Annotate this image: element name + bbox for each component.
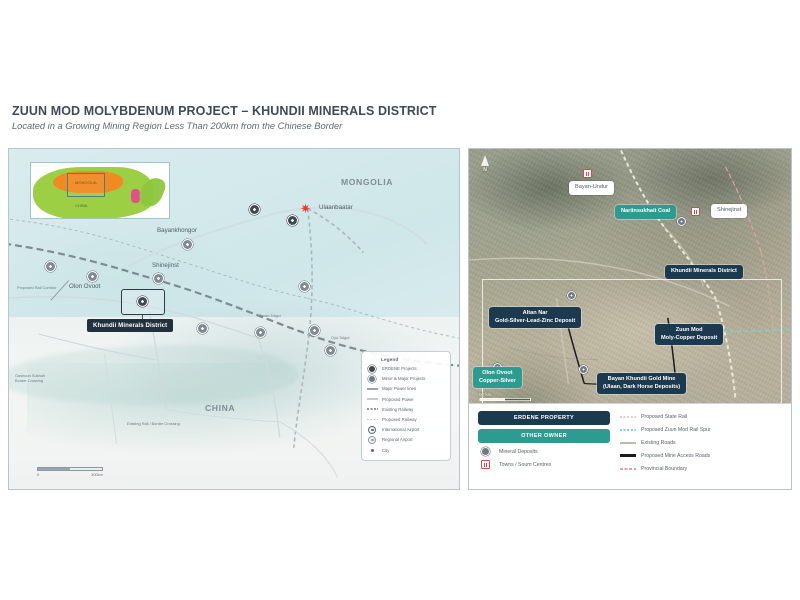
legend-row-provincial-boundary: Provincial Boundary xyxy=(620,464,782,473)
country-label-mongolia: MONGOLIA xyxy=(341,177,393,187)
town-chip-bayan-undur[interactable]: Bayan-Undur xyxy=(569,181,614,195)
deposit-chip-olon-ovoot[interactable]: Olon Ovoot Copper-Silver xyxy=(473,367,522,388)
inset-china-label: CHINA xyxy=(75,203,87,208)
page-subtitle: Located in a Growing Mining Region Less … xyxy=(12,121,482,131)
right-scale-bar-graphic xyxy=(479,398,531,401)
legend-row-international-airport: International Airport xyxy=(367,426,445,434)
deposit-chip-zuun-mod-line2: Moly-Copper Deposit xyxy=(661,335,717,343)
deposit-chip-altan-nar-line1: Altan Nar xyxy=(523,310,548,316)
deposit-chip-zuun-mod-line1: Zuun Mod xyxy=(676,327,703,333)
circle-dark-icon xyxy=(367,365,378,373)
title-divider xyxy=(12,140,432,141)
project-node-shinejinst[interactable] xyxy=(153,273,164,284)
country-label-china: CHINA xyxy=(205,403,235,413)
deposit-chip-olon-ovoot-line1: Olon Ovoot xyxy=(482,370,512,376)
right-map-legend: ERDENE PROPERTY OTHER OWNER Mineral Depo… xyxy=(469,403,791,489)
legend-row-mineral-deposits: Mineral Deposits xyxy=(478,447,610,456)
left-scale-min: 0 xyxy=(37,472,39,477)
provincial-boundary-icon xyxy=(620,464,636,473)
legend-row-proposed-state-rail: Proposed State Rail xyxy=(620,412,782,421)
legend-label: Existing Roads xyxy=(641,440,676,446)
proposed-railway-icon xyxy=(367,415,378,423)
project-node-bayankhongor[interactable] xyxy=(182,239,193,250)
district-chip-khundii[interactable]: Khundii Minerals District xyxy=(665,265,743,279)
legend-label: Mineral Deposits xyxy=(499,449,538,455)
proposed-power-line-icon xyxy=(367,395,378,403)
khundii-district-satellite-map[interactable]: N 50 km Bayan-Undur Shinejinst Nariinsuk… xyxy=(468,148,792,490)
legend-row-other-projects: Minor & Major Projects xyxy=(367,375,445,383)
town-chip-shinejinst[interactable]: Shinejinst xyxy=(711,204,747,218)
legend-label: Minor & Major Projects xyxy=(382,376,425,381)
deposit-marker-bayan-khundii[interactable] xyxy=(579,365,588,374)
legend-row-erdene-projects: ERDENE Projects xyxy=(367,365,445,373)
town-label-bayankhongor: Bayankhongor xyxy=(157,227,197,234)
deposit-marker-altan-nar[interactable] xyxy=(567,291,576,300)
legend-label: Proposed Zuun Mod Rail Spur xyxy=(641,427,711,433)
town-icon xyxy=(478,460,494,469)
legend-label: Proposed State Rail xyxy=(641,414,687,420)
legend-label: Proposed Power xyxy=(382,397,414,402)
annotation-rail-corridor: Proposed Rail Corridor xyxy=(17,285,57,290)
legend-label: Proposed Railway xyxy=(382,417,417,422)
deposit-chip-bayan-khundii[interactable]: Bayan Khundii Gold Mine (Ulaan, Dark Hor… xyxy=(597,373,686,394)
annotation-oyu-tolgoi: Oyu Tolgoi xyxy=(331,335,349,340)
project-node-tavantolgoi[interactable] xyxy=(255,327,266,338)
existing-road-icon xyxy=(620,438,636,447)
right-scale-value: 50 km xyxy=(479,392,531,397)
project-node-oyutolgoi[interactable] xyxy=(309,325,320,336)
legend-row-proposed-railway: Proposed Railway xyxy=(367,415,445,423)
legend-label: Proposed Mine Access Roads xyxy=(641,453,710,459)
state-rail-icon xyxy=(620,412,636,421)
deposit-chip-zuun-mod[interactable]: Zuun Mod Moly-Copper Deposit xyxy=(655,324,723,345)
legend-label: Provincial Boundary xyxy=(641,466,687,472)
legend-row-major-power: Major Power lines xyxy=(367,385,445,393)
inset-mongolia-label: MONGOLIA xyxy=(75,180,97,185)
city-dot-icon xyxy=(367,446,378,454)
town-marker-bayan-undur[interactable] xyxy=(583,169,592,178)
north-label: N xyxy=(477,167,493,173)
circle-icon xyxy=(367,375,378,383)
left-map-scale-bar: 0 300km xyxy=(37,467,103,477)
project-node-west[interactable] xyxy=(45,261,56,272)
regional-airport-icon xyxy=(367,436,378,444)
project-node-north[interactable] xyxy=(249,204,260,215)
legend-row-mine-access-roads: Proposed Mine Access Roads xyxy=(620,451,782,460)
deposit-icon xyxy=(478,447,494,456)
locator-inset-map: MONGOLIA CHINA xyxy=(30,162,170,219)
project-node-northeast[interactable] xyxy=(287,215,298,226)
project-node-southeast[interactable] xyxy=(325,345,336,356)
annotation-rail-existing: Existing Rail / Border Crossing xyxy=(127,421,180,426)
railway-icon xyxy=(367,405,378,413)
inset-focus-box xyxy=(67,173,105,197)
north-arrow-icon: N xyxy=(477,155,493,177)
deposit-chip-altan-nar[interactable]: Altan Nar Gold-Silver-Lead-Zinc Deposit xyxy=(489,307,581,328)
deposit-chip-olon-ovoot-line2: Copper-Silver xyxy=(479,378,516,386)
project-node-khundii[interactable] xyxy=(137,296,148,307)
legend-lines-column: Proposed State Rail Proposed Zuun Mod Ra… xyxy=(620,411,782,482)
legend-label: ERDENE Projects xyxy=(382,366,417,371)
power-line-icon xyxy=(367,385,378,393)
legend-label: Major Power lines xyxy=(382,386,416,391)
annotation-tavan-tolgoi: Tavan Tolgoi xyxy=(259,313,281,318)
legend-row-proposed-power: Proposed Power xyxy=(367,395,445,403)
legend-row-existing-railway: Existing Railway xyxy=(367,405,445,413)
legend-label: Regional Airport xyxy=(382,437,413,442)
legend-label: Towns / Soum Centres xyxy=(499,462,551,468)
title-block: ZUUN MOD MOLYBDENUM PROJECT – KHUNDII MI… xyxy=(12,104,482,131)
legend-label: City xyxy=(382,448,389,453)
rail-spur-icon xyxy=(620,425,636,434)
town-marker-shinejinst[interactable] xyxy=(691,207,700,216)
regional-overview-map[interactable]: MONGOLIA CHINA MONGOLIA CHINA ✷ Ulaanbaa… xyxy=(8,148,460,490)
mine-access-road-icon xyxy=(620,451,636,460)
page-title: ZUUN MOD MOLYBDENUM PROJECT – KHUNDII MI… xyxy=(12,104,482,118)
legend-row-regional-airport: Regional Airport xyxy=(367,436,445,444)
legend-row-rail-spur: Proposed Zuun Mod Rail Spur xyxy=(620,425,782,434)
legend-label: International Airport xyxy=(382,427,419,432)
slide-canvas: ZUUN MOD MOLYBDENUM PROJECT – KHUNDII MI… xyxy=(0,0,800,600)
legend-pill-erdene-property: ERDENE PROPERTY xyxy=(478,411,610,425)
legend-owner-column: ERDENE PROPERTY OTHER OWNER Mineral Depo… xyxy=(478,411,610,482)
deposit-chip-bayan-khundii-line2: (Ulaan, Dark Horse Deposits) xyxy=(603,384,680,392)
deposit-chip-altan-nar-line2: Gold-Silver-Lead-Zinc Deposit xyxy=(495,318,575,326)
project-node-central[interactable] xyxy=(197,323,208,334)
legend-row-towns: Towns / Soum Centres xyxy=(478,460,610,469)
left-scale-max: 300km xyxy=(91,472,103,477)
town-label-shinejinst: Shinejinst xyxy=(152,262,179,269)
left-map-legend: Legend ERDENE Projects Minor & Major Pro… xyxy=(361,351,451,462)
city-label-ulaanbaatar: Ulaanbaatar xyxy=(319,204,353,211)
legend-row-existing-roads: Existing Roads xyxy=(620,438,782,447)
project-node-east[interactable] xyxy=(299,281,310,292)
town-label-olon-ovoot: Olon Ovoot xyxy=(69,283,100,290)
deposit-chip-bayan-khundii-line1: Bayan Khundii Gold Mine xyxy=(608,376,676,382)
left-legend-title: Legend xyxy=(381,357,445,362)
airport-icon xyxy=(367,426,378,434)
project-node-olon-ovoot[interactable] xyxy=(87,271,98,282)
right-map-scale-bar: 50 km xyxy=(479,392,531,401)
deposit-marker-nariinsukhait[interactable] xyxy=(677,217,686,226)
annotation-border-crossing: Gashuun Sukhait Border Crossing xyxy=(15,373,45,384)
deposit-chip-nariinsukhait[interactable]: Nariinsukhait Coal xyxy=(615,205,676,219)
legend-pill-other-owner: OTHER OWNER xyxy=(478,429,610,443)
legend-label: Existing Railway xyxy=(382,407,413,412)
khundii-district-label: Khundii Minerals District xyxy=(87,319,173,332)
legend-row-city: City xyxy=(367,446,445,454)
left-scale-bar-graphic xyxy=(37,467,103,471)
